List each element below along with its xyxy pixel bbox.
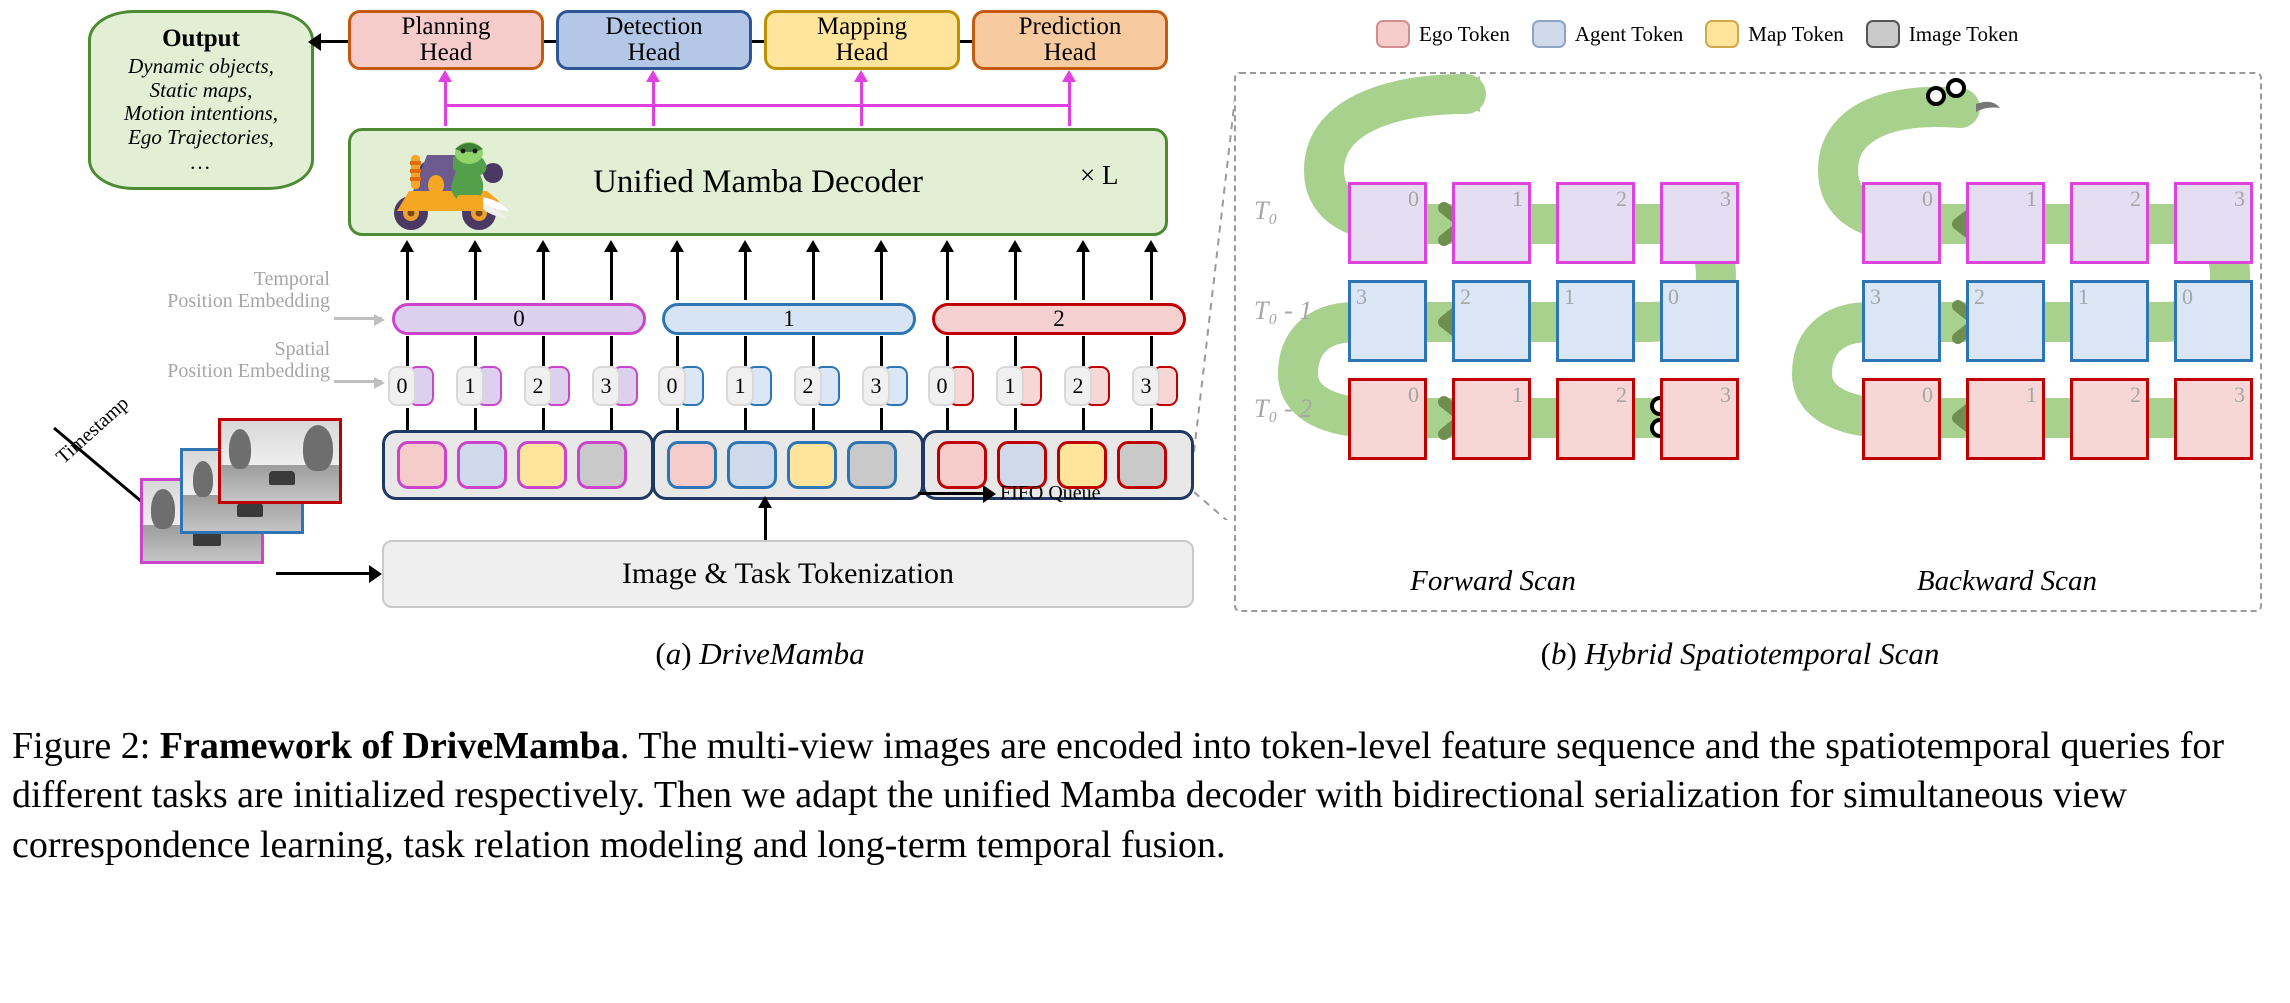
camera-thumbnail-t0 [218,418,342,504]
token-sequence-group-0 [382,430,654,500]
forward-cell-value-t1-2: 1 [1564,284,1575,310]
decoder-to-detection-arrow-icon [652,80,655,126]
output-item-1: Static maps, [124,79,278,103]
output-item-2: Motion intentions, [124,102,278,126]
prediction-head-line2: Head [1044,40,1097,66]
backward-cell-t0-1: 1 [1966,182,2045,264]
forward-cell-value-t2-3: 3 [1720,382,1731,408]
spatial-pe-cell-0-2[interactable]: 2 [524,364,554,408]
fifo-queue-label: FIFO Queue [1000,482,1101,505]
spe-connector-7 [880,336,883,366]
ego-token-0[interactable] [397,441,447,489]
spatial-pe-cell-1-2[interactable]: 2 [794,364,824,408]
caption-prefix: Figure 2: [12,725,160,767]
decoder-to-mapping-arrow-icon [860,80,863,126]
image-token-2[interactable] [1117,441,1167,489]
panel-a-paren-open: ( [655,636,665,672]
image-token-0[interactable] [577,441,627,489]
forward-cell-t1-2: 1 [1556,280,1635,362]
detection-head-box[interactable]: Detection Head [556,10,752,70]
mapping-head-line1: Mapping [817,14,907,40]
forward-cell-t1-3: 0 [1660,280,1739,362]
spe-connector-8 [946,336,949,366]
spatial-pe-arrow-icon [334,380,382,383]
panel-b-letter: b [1551,636,1567,672]
backward-cell-t1-3: 0 [2174,280,2253,362]
tokenizer-to-sequence-arrow-icon [764,506,767,540]
tpe-to-decoder-arrow-9 [1014,250,1017,300]
decoder-to-planning-arrow-icon [444,80,447,126]
forward-row-label-t0-2: T₀ - 2 [1254,394,1312,424]
spatial-pe-value-0-0: 0 [388,366,416,406]
backward-cell-t0-2: 2 [2070,182,2149,264]
planning-head-line2: Head [420,40,473,66]
tpe-to-decoder-arrow-5 [744,250,747,300]
backward-cell-value-t0-3: 3 [2234,186,2245,212]
temporal-pe-value-0: 0 [513,306,525,332]
forward-cell-t1-0: 3 [1348,280,1427,362]
legend-item-ego: Ego Token [1376,20,1510,48]
temporal-pe-pill-0[interactable]: 0 [392,303,646,335]
forward-cell-t2-2: 2 [1556,378,1635,460]
temporal-pe-line1: Temporal [110,268,330,290]
spe-connector-4 [676,336,679,366]
spatial-pe-line1: Spatial [110,338,330,360]
spatial-pe-cell-0-3[interactable]: 3 [592,364,622,408]
forward-scan-diagram: T₀ T₀ - 1 T₀ - 2 0 1 2 3 3 2 1 0 [1236,74,1750,614]
spatial-pe-cell-0-1[interactable]: 1 [456,364,486,408]
tpe-to-decoder-arrow-7 [880,250,883,300]
spe-connector-6 [812,336,815,366]
temporal-pe-value-2: 2 [1053,306,1065,332]
forward-row-label-t0: T₀ [1254,196,1278,226]
temporal-pe-arrow-icon [334,317,382,320]
backward-cell-t2-0: 0 [1862,378,1941,460]
forward-row-label-t0-1: T₀ - 1 [1254,296,1312,326]
spatial-pe-value-0-2: 2 [524,366,552,406]
tpe-to-decoder-arrow-2 [542,250,545,300]
forward-cell-t1-1: 2 [1452,280,1531,362]
head-connector-3 [960,40,972,43]
spatial-pe-line2: Position Embedding [110,360,330,382]
forward-cell-t0-3: 3 [1660,182,1739,264]
spatial-pe-value-2-0: 0 [928,366,956,406]
backward-cell-value-t2-1: 1 [2026,382,2037,408]
output-ellipsis: ... [190,151,212,175]
forward-cell-value-t0-2: 2 [1616,186,1627,212]
spatial-pe-cell-1-0[interactable]: 0 [658,364,688,408]
detection-head-line2: Head [628,40,681,66]
spatial-pe-cell-0-0[interactable]: 0 [388,364,418,408]
spatial-pe-value-1-3: 3 [862,366,890,406]
camera-to-tokenizer-arrow-icon [276,572,370,575]
backward-cell-t1-0: 3 [1862,280,1941,362]
spe-connector-3 [610,336,613,366]
ego-token-2[interactable] [937,441,987,489]
spatial-pe-cell-2-0[interactable]: 0 [928,364,958,408]
spe-connector-0 [406,336,409,366]
forward-cell-t2-3: 3 [1660,378,1739,460]
backward-cell-value-t1-2: 1 [2078,284,2089,310]
legend-label-map: Map Token [1748,22,1844,47]
spatial-pe-value-2-1: 1 [996,366,1024,406]
backward-cell-t0-3: 3 [2174,182,2253,264]
forward-cell-t0-2: 2 [1556,182,1635,264]
legend-item-map: Map Token [1705,20,1844,48]
backward-cell-t2-2: 2 [2070,378,2149,460]
legend-item-image: Image Token [1866,20,2019,48]
spatial-pe-value-1-2: 2 [794,366,822,406]
spe-connector-10 [1082,336,1085,366]
spe-connector-9 [1014,336,1017,366]
tokenizer-label: Image & Task Tokenization [622,557,954,591]
panel-b-paren-close: ) [1567,636,1577,672]
backward-cell-value-t0-2: 2 [2130,186,2141,212]
forward-cell-value-t0-3: 3 [1720,186,1731,212]
decoder-repeat-count: × L [1080,160,1118,191]
head-connector-2 [752,40,764,43]
spatial-pe-cell-1-3[interactable]: 3 [862,364,892,408]
legend-label-ego: Ego Token [1419,22,1510,47]
decoder-to-prediction-arrow-icon [1068,80,1071,126]
spe-connector-1 [474,336,477,366]
spe-connector-2 [542,336,545,366]
backward-cell-t2-3: 3 [2174,378,2253,460]
backward-cell-value-t0-0: 0 [1922,186,1933,212]
ego-token-swatch-icon [1376,20,1410,48]
agent-token-1[interactable] [727,441,777,489]
planning-head-line1: Planning [402,14,491,40]
spatial-position-embedding-label: Spatial Position Embedding [110,338,330,383]
panel-b-caption-text: Hybrid Spatiotemporal Scan [1585,636,1940,672]
token-legend: Ego Token Agent Token Map Token Image To… [1376,20,2018,48]
image-task-tokenization-box: Image & Task Tokenization [382,540,1194,608]
prediction-head-line1: Prediction [1019,14,1122,40]
tpe-to-decoder-arrow-8 [946,250,949,300]
tpe-to-decoder-arrow-0 [406,250,409,300]
mapping-head-line2: Head [836,40,889,66]
backward-cell-value-t2-0: 0 [1922,382,1933,408]
backward-cell-t1-1: 2 [1966,280,2045,362]
ego-token-1[interactable] [667,441,717,489]
spatial-pe-cell-2-1[interactable]: 1 [996,364,1026,408]
panel-a-paren-close: ) [681,636,691,672]
output-item-0: Dynamic objects, [124,55,278,79]
figure-2: Ego Token Agent Token Map Token Image To… [0,0,2290,700]
spatial-pe-value-2-3: 3 [1132,366,1160,406]
image-token-swatch-icon [1866,20,1900,48]
backward-cell-t1-2: 1 [2070,280,2149,362]
tpe-to-decoder-arrow-10 [1082,250,1085,300]
head-connector-1 [544,40,556,43]
forward-cell-value-t0-1: 1 [1512,186,1523,212]
panel-a-caption: (a) DriveMamba [350,636,1170,672]
output-arrow-icon [320,40,348,43]
token-sequence-group-1 [652,430,924,500]
temporal-pe-pill-2[interactable]: 2 [932,303,1186,335]
mapping-head-box[interactable]: Mapping Head [764,10,960,70]
backward-cell-value-t0-1: 1 [2026,186,2037,212]
spatial-pe-value-2-2: 2 [1064,366,1092,406]
backward-cell-t2-1: 1 [1966,378,2045,460]
map-token-1[interactable] [787,441,837,489]
forward-cell-value-t1-3: 0 [1668,284,1679,310]
tpe-to-decoder-arrow-3 [610,250,613,300]
backward-cell-value-t1-1: 2 [1974,284,1985,310]
panel-a-letter: a [666,636,682,672]
panel-b-paren-open: ( [1541,636,1551,672]
forward-scan-caption: Forward Scan [1236,565,1750,598]
tpe-to-decoder-arrow-4 [676,250,679,300]
prediction-head-box[interactable]: Prediction Head [972,10,1168,70]
forward-cell-t2-0: 0 [1348,378,1427,460]
spatial-pe-cell-2-2[interactable]: 2 [1064,364,1094,408]
panel-a-caption-text: DriveMamba [699,636,864,672]
figure-caption: Figure 2: Framework of DriveMamba. The m… [12,722,2280,870]
temporal-pe-line2: Position Embedding [110,290,330,312]
backward-scan-caption: Backward Scan [1750,565,2264,598]
spatial-pe-cell-2-3[interactable]: 3 [1132,364,1162,408]
backward-cell-value-t1-3: 0 [2182,284,2193,310]
tpe-to-decoder-arrow-11 [1150,250,1153,300]
output-title: Output [162,25,240,53]
agent-token-swatch-icon [1532,20,1566,48]
forward-cell-t2-1: 1 [1452,378,1531,460]
temporal-pe-value-1: 1 [783,306,795,332]
forward-cell-value-t0-0: 0 [1408,186,1419,212]
tpe-to-decoder-arrow-6 [812,250,815,300]
legend-label-image: Image Token [1909,22,2019,47]
fifo-queue-arrow-icon [918,492,984,495]
forward-cell-t0-0: 0 [1348,182,1427,264]
planning-head-box[interactable]: Planning Head [348,10,544,70]
temporal-position-embedding-label: Temporal Position Embedding [110,268,330,313]
spe-connector-11 [1150,336,1153,366]
forward-cell-value-t2-2: 2 [1616,382,1627,408]
backward-cell-value-t2-3: 3 [2234,382,2245,408]
backward-cell-t0-0: 0 [1862,182,1941,264]
decoder-head-bus-line [444,104,1070,107]
forward-cell-value-t2-1: 1 [1512,382,1523,408]
forward-cell-value-t1-0: 3 [1356,284,1367,310]
agent-token-0[interactable] [457,441,507,489]
output-item-3: Ego Trajectories, [124,126,278,150]
output-box: Output Dynamic objects, Static maps, Mot… [88,10,314,190]
forward-cell-t0-1: 1 [1452,182,1531,264]
spatial-pe-value-1-0: 0 [658,366,686,406]
forward-cell-value-t1-1: 2 [1460,284,1471,310]
mamba-kart-mascot-icon [383,137,515,233]
legend-label-agent: Agent Token [1575,22,1683,47]
tpe-to-decoder-arrow-1 [474,250,477,300]
hybrid-spatiotemporal-scan-panel: T₀ T₀ - 1 T₀ - 2 0 1 2 3 3 2 1 0 [1234,72,2262,612]
map-token-swatch-icon [1705,20,1739,48]
temporal-pe-pill-1[interactable]: 1 [662,303,916,335]
backward-cell-value-t2-2: 2 [2130,382,2141,408]
backward-cell-value-t1-0: 3 [1870,284,1881,310]
spatial-pe-cell-1-1[interactable]: 1 [726,364,756,408]
detection-head-line1: Detection [605,14,702,40]
spe-connector-5 [744,336,747,366]
panel-b-caption: (b) Hybrid Spatiotemporal Scan [1240,636,2240,672]
legend-item-agent: Agent Token [1532,20,1683,48]
output-item-list: Dynamic objects, Static maps, Motion int… [124,55,278,149]
image-token-1[interactable] [847,441,897,489]
caption-bold-title: Framework of DriveMamba [160,725,620,767]
spatial-pe-value-0-3: 3 [592,366,620,406]
map-token-0[interactable] [517,441,567,489]
unified-mamba-decoder-box: Unified Mamba Decoder [348,128,1168,236]
spatial-pe-value-1-1: 1 [726,366,754,406]
spatial-pe-value-0-1: 1 [456,366,484,406]
decoder-label: Unified Mamba Decoder [593,164,923,201]
backward-scan-diagram: 0 1 2 3 3 2 1 0 0 1 2 [1750,74,2264,614]
forward-cell-value-t2-0: 0 [1408,382,1419,408]
